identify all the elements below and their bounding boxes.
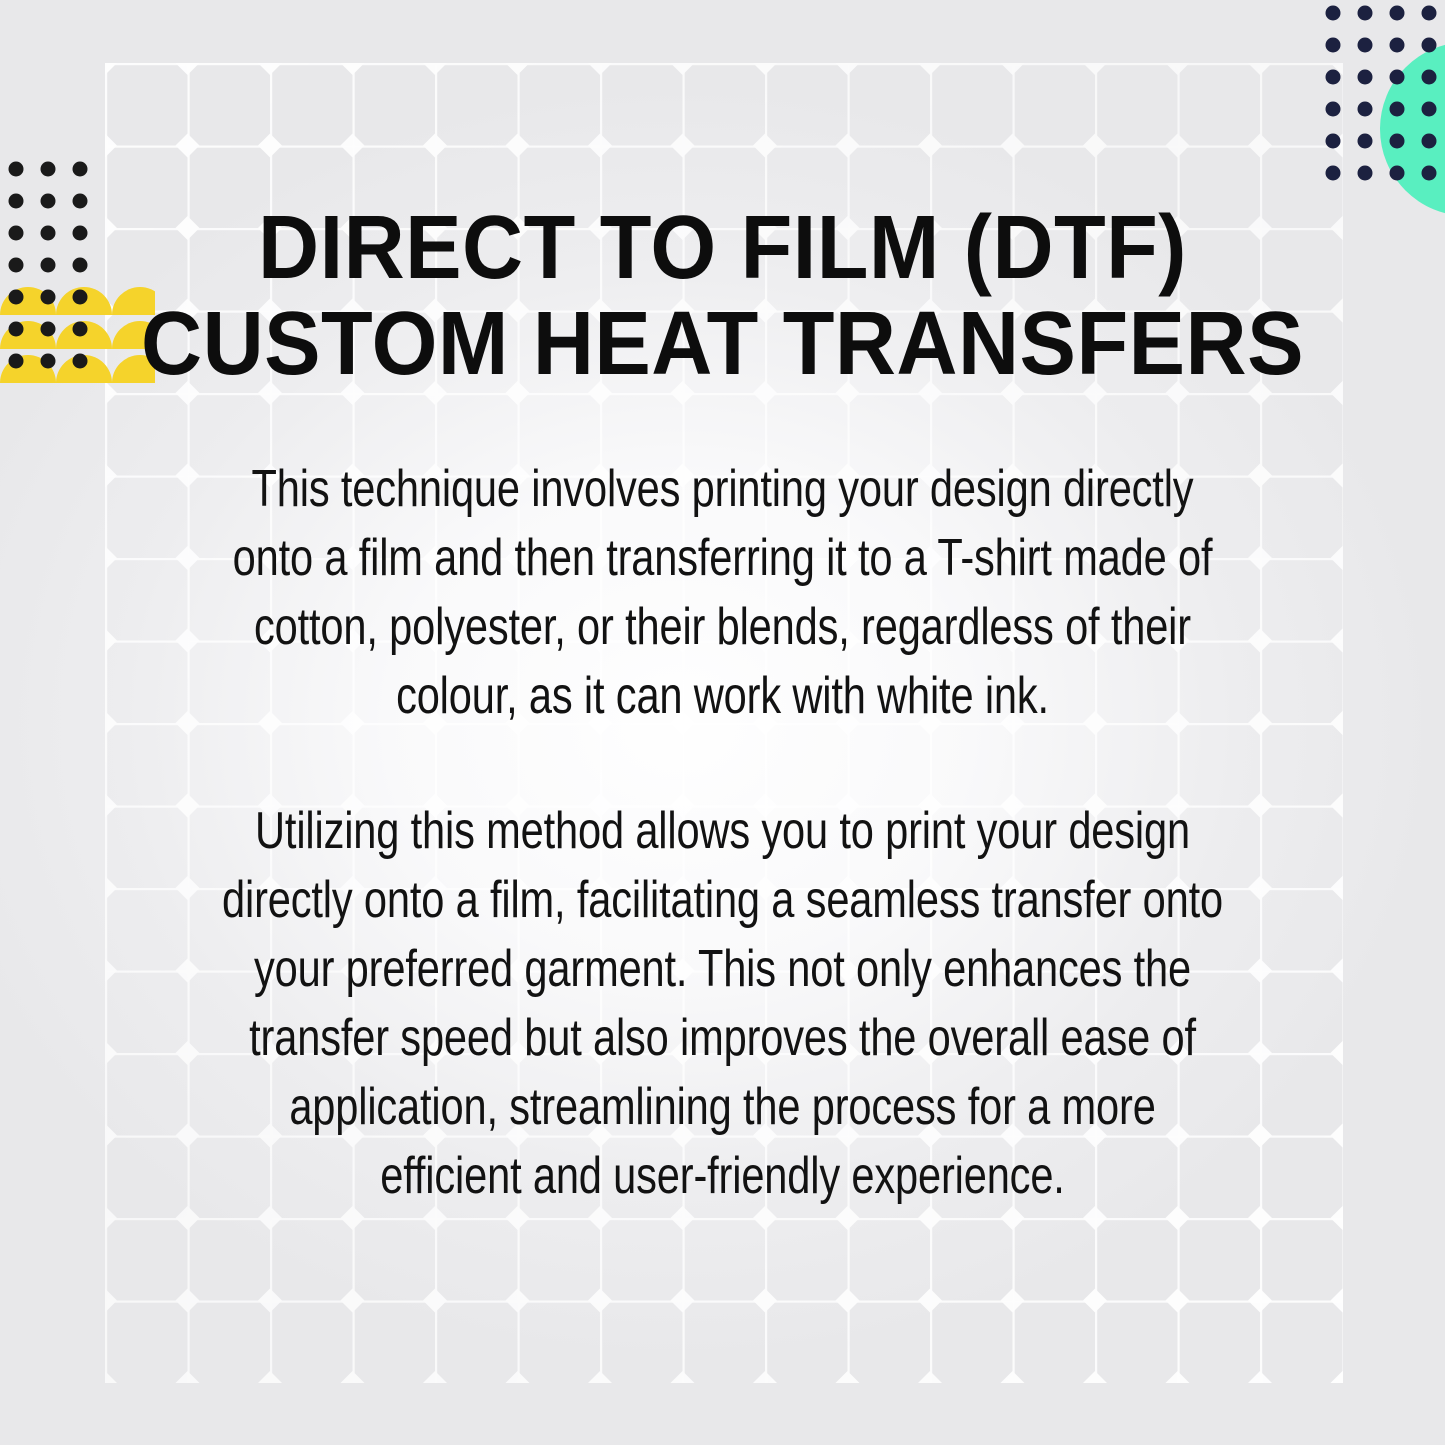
infographic-card: DIRECT TO FILM (DTF) CUSTOM HEAT TRANSFE… xyxy=(0,0,1445,1445)
paragraph-2: Utilizing this method allows you to prin… xyxy=(217,797,1229,1211)
paragraph-1: This technique involves printing your de… xyxy=(217,455,1229,731)
card-content: DIRECT TO FILM (DTF) CUSTOM HEAT TRANSFE… xyxy=(0,0,1445,1445)
title-line-1: DIRECT TO FILM (DTF) xyxy=(43,200,1401,296)
page-title: DIRECT TO FILM (DTF) CUSTOM HEAT TRANSFE… xyxy=(43,200,1401,392)
body-copy: This technique involves printing your de… xyxy=(90,455,1355,1211)
title-line-2: CUSTOM HEAT TRANSFERS xyxy=(43,296,1401,392)
